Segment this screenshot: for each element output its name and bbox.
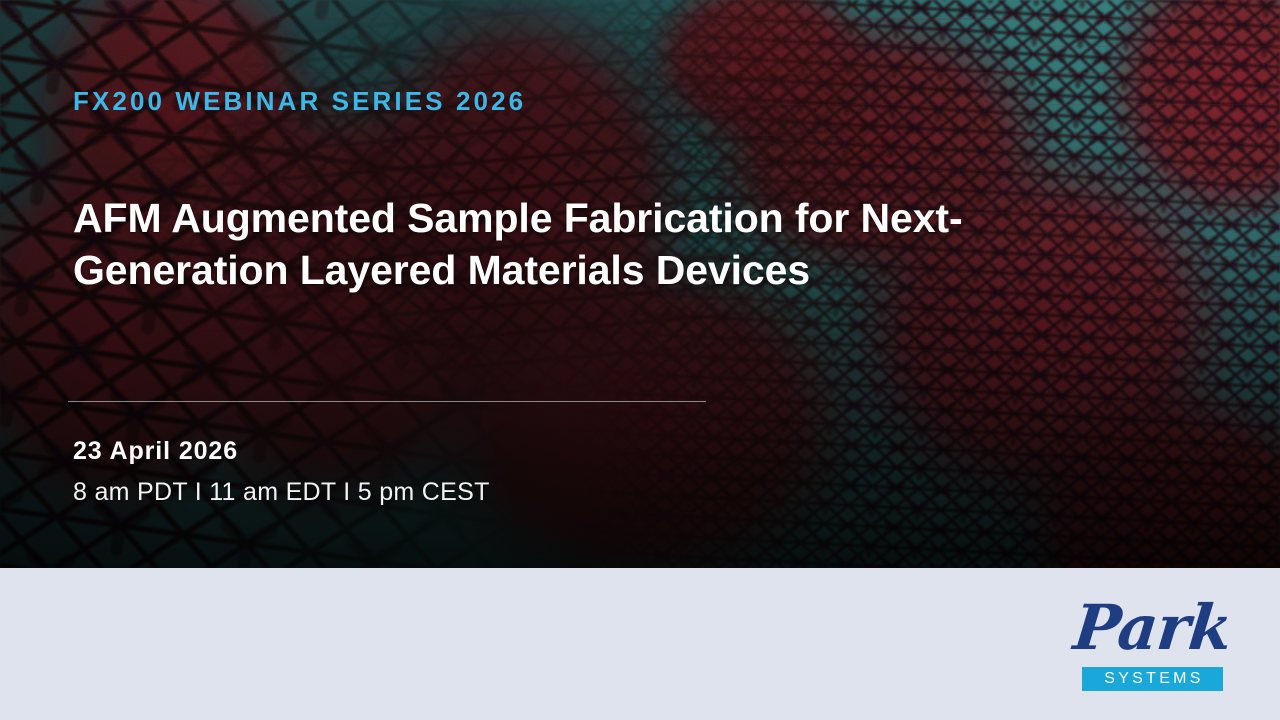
- event-times: 8 am PDT I 11 am EDT I 5 pm CEST: [73, 478, 490, 507]
- webinar-promo-banner: FX200 WEBINAR SERIES 2026 AFM Augmented …: [0, 0, 1280, 720]
- page-title: AFM Augmented Sample Fabrication for Nex…: [73, 192, 1053, 296]
- event-date: 23 April 2026: [73, 437, 238, 466]
- park-systems-logo: Park SYSTEMS: [1070, 596, 1235, 696]
- footer-bar: Park SYSTEMS: [0, 568, 1280, 720]
- series-eyebrow: FX200 WEBINAR SERIES 2026: [73, 86, 526, 117]
- logo-wordmark: Park: [1066, 592, 1239, 664]
- logo-subtext: SYSTEMS: [1082, 667, 1223, 691]
- section-divider: [68, 401, 706, 402]
- hero-content: FX200 WEBINAR SERIES 2026 AFM Augmented …: [0, 0, 1280, 568]
